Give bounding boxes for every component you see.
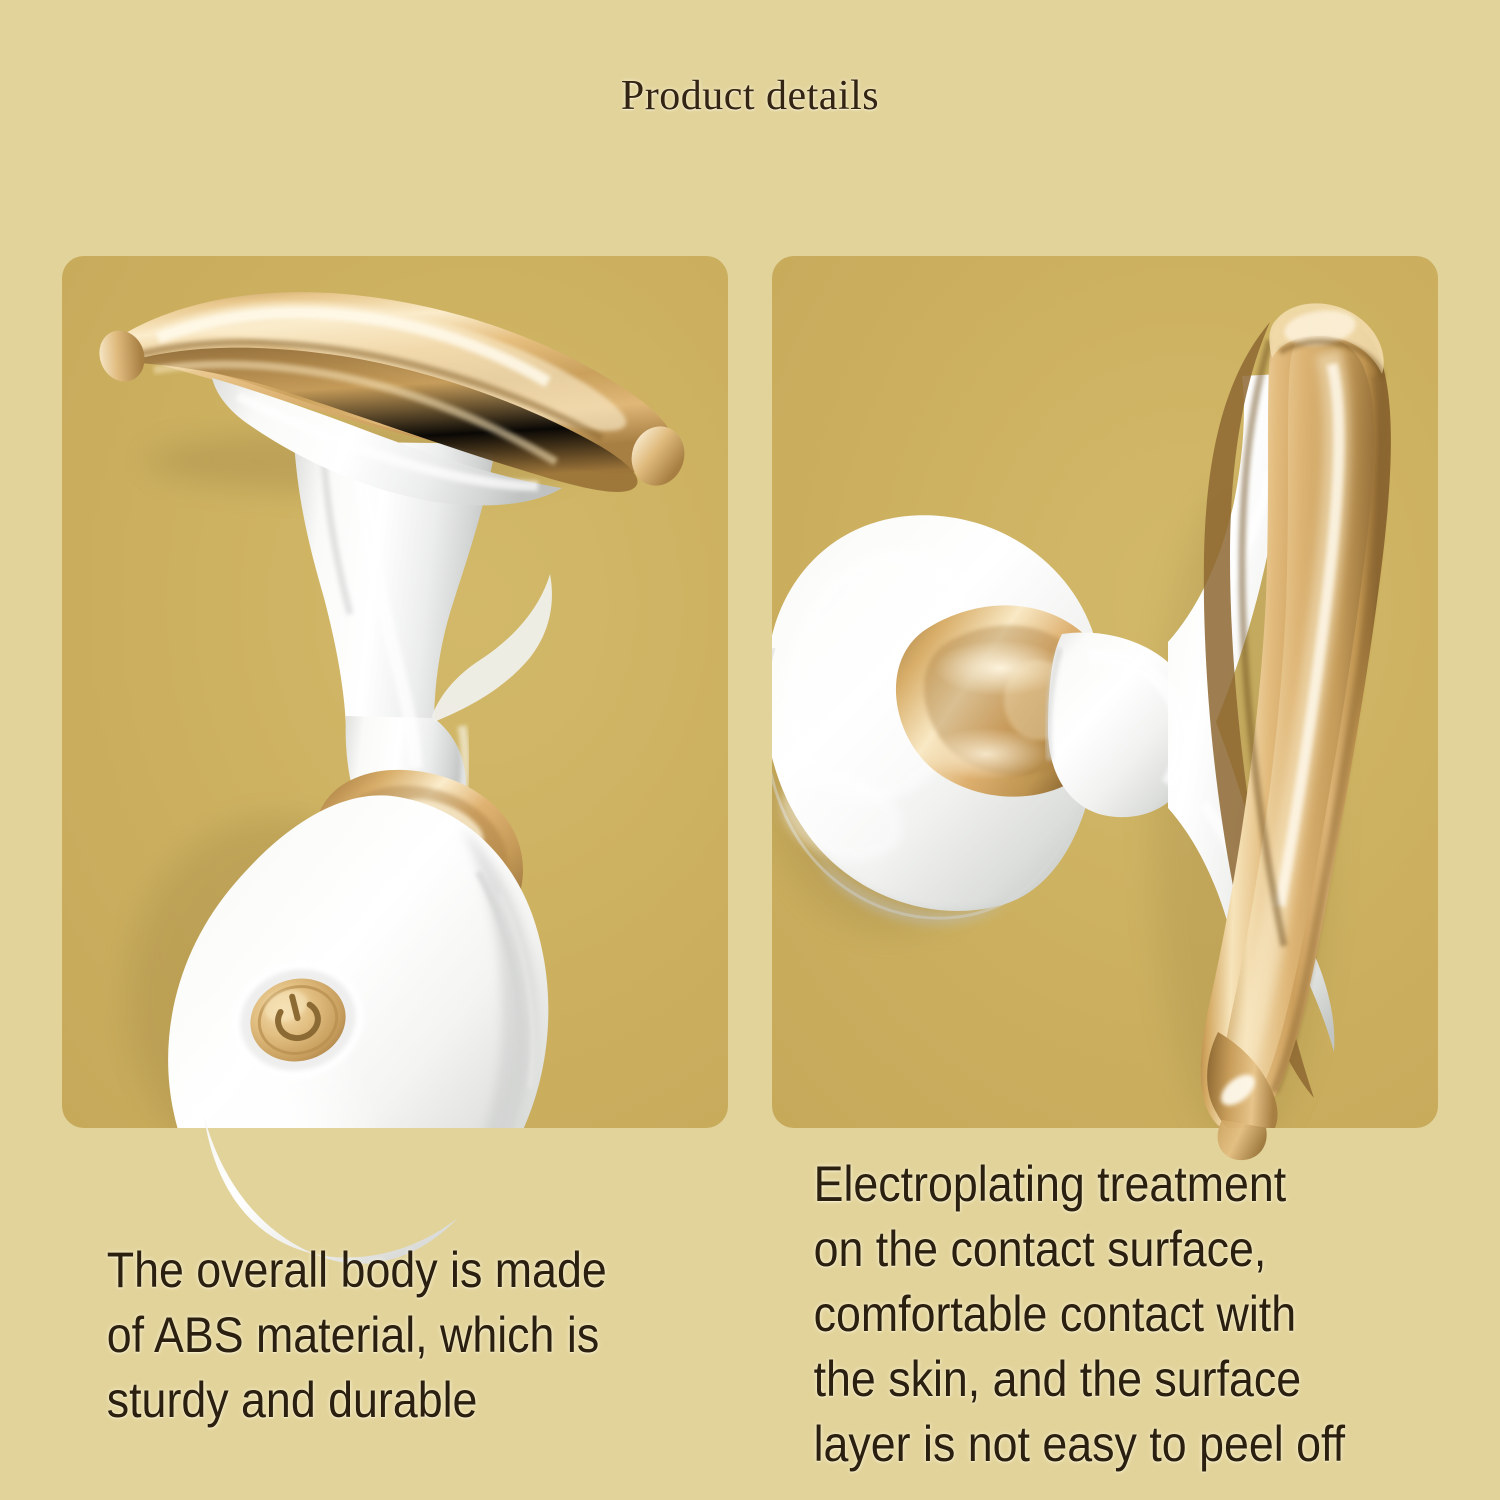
device-side-view-illustration	[772, 256, 1438, 1128]
caption-row: The overall body is made of ABS material…	[62, 1152, 1438, 1482]
product-card-side-view[interactable]	[772, 256, 1438, 1128]
caption-side-view: Electroplating treatment on the contact …	[776, 1152, 1368, 1482]
card-clip-front	[62, 256, 728, 1128]
product-image-gallery	[62, 256, 1438, 1128]
page-title: Product details	[0, 72, 1500, 120]
product-card-front-view[interactable]	[62, 256, 728, 1128]
card-clip-side	[772, 256, 1438, 1128]
device-front-view-illustration	[62, 256, 728, 1128]
caption-front-view: The overall body is made of ABS material…	[62, 1152, 662, 1482]
